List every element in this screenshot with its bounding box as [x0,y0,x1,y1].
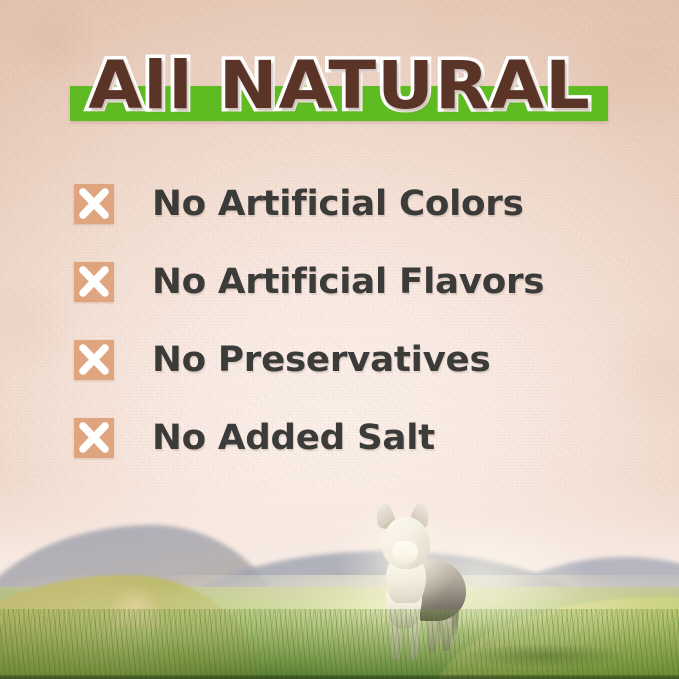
list-item: No Artificial Colors [74,180,634,258]
x-mark-icon [74,184,114,224]
claim-label: No Preservatives [152,336,490,384]
x-mark-icon [74,418,114,458]
meadow-photo [0,479,679,679]
claim-label: No Added Salt [152,414,435,462]
product-claim-poster: All NATURAL No Artificial Colors No Arti… [0,0,679,679]
list-item: No Artificial Flavors [74,258,634,336]
photo-bottom-edge [0,675,679,679]
x-mark-icon [74,262,114,302]
claim-label: No Artificial Colors [152,180,524,228]
list-item: No Preservatives [74,336,634,414]
foreground-grass [0,609,679,679]
x-mark-icon [74,340,114,380]
page-title: All NATURAL [0,47,679,125]
claim-label: No Artificial Flavors [152,258,544,306]
claims-list: No Artificial Colors No Artificial Flavo… [74,180,634,492]
